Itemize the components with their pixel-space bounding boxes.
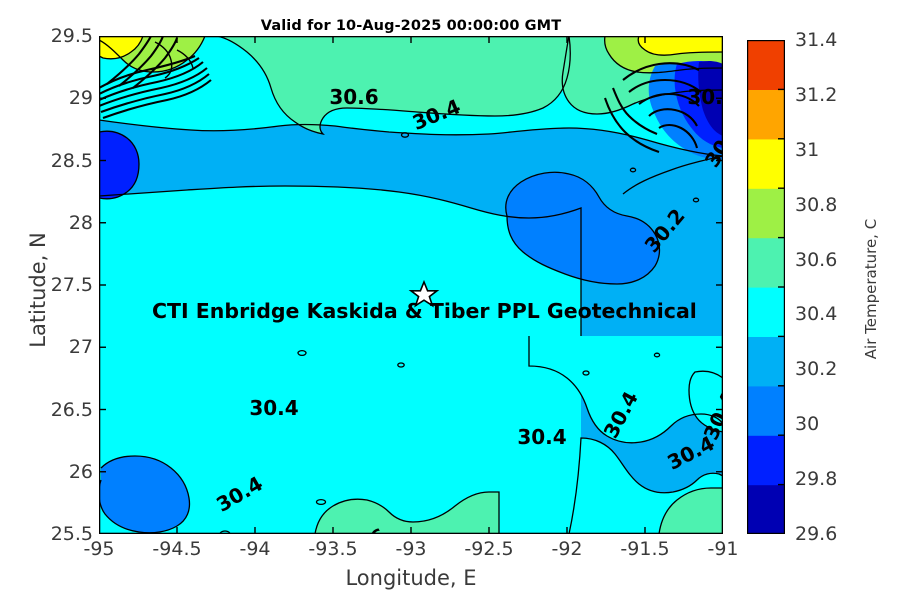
colorbar-tick-label-31: 31 (795, 139, 819, 161)
colorbar-band-3 (747, 336, 785, 386)
x-axis-label: Longitude, E (99, 566, 723, 590)
y-tick-label-29: 29 (10, 87, 93, 109)
x-tick-label--94: -94 (239, 538, 270, 560)
y-tick-label-26: 26 (10, 461, 93, 483)
colorbar-band-0 (747, 485, 785, 534)
colorbar-band-9 (747, 40, 785, 90)
colorbar-band-5 (747, 238, 785, 288)
contour-map-svg: 30.630.430.630.430.230.430.430.430.430.4… (99, 36, 723, 534)
y-tick-label-25.5: 25.5 (10, 523, 93, 545)
colorbar-tick-label-30.2: 30.2 (795, 358, 837, 380)
colorbar[interactable] (747, 40, 785, 534)
contour-label-30.4-5: 30.4 (249, 396, 298, 420)
figure-canvas: Valid for 10-Aug-2025 00:00:00 GMT (0, 0, 900, 600)
colorbar-tick-label-30.8: 30.8 (795, 194, 837, 216)
site-label: CTI Enbridge Kaskida & Tiber PPL Geotech… (152, 299, 697, 323)
y-tick-label-27: 27 (10, 336, 93, 358)
colorbar-svg (747, 40, 785, 534)
contour-map[interactable]: 30.630.430.630.430.230.430.430.430.430.4… (99, 36, 723, 534)
y-tick-label-26.5: 26.5 (10, 399, 93, 421)
page-title: Valid for 10-Aug-2025 00:00:00 GMT (99, 18, 723, 34)
x-tick-label--91.5: -91.5 (620, 538, 669, 560)
colorbar-band-4 (747, 287, 785, 337)
y-tick-label-28.5: 28.5 (10, 150, 93, 172)
x-tick-label--93.5: -93.5 (308, 538, 357, 560)
y-tick-label-28: 28 (10, 212, 93, 234)
x-tick-label--92.5: -92.5 (464, 538, 513, 560)
contour-label-30.4-6: 30.4 (517, 425, 566, 449)
colorbar-tick-label-29.8: 29.8 (795, 468, 837, 490)
colorbar-band-1 (747, 435, 785, 485)
colorbar-band-7 (747, 139, 785, 189)
x-tick-label--93: -93 (395, 538, 426, 560)
colorbar-band-6 (747, 188, 785, 238)
y-tick-label-29.5: 29.5 (10, 25, 93, 47)
contour-fills (99, 36, 723, 534)
x-tick-label--91: -91 (707, 538, 738, 560)
colorbar-tick-label-30: 30 (795, 413, 819, 435)
colorbar-tick-label-31.4: 31.4 (795, 29, 837, 51)
x-tick-label--92: -92 (551, 538, 582, 560)
y-axis-label: Latitude, N (26, 160, 50, 420)
contour-label-30.6-2: 30.6 (687, 85, 723, 109)
x-tick-label--94.5: -94.5 (152, 538, 201, 560)
colorbar-band-2 (747, 386, 785, 436)
colorbar-tick-label-29.6: 29.6 (795, 523, 837, 545)
y-tick-label-27.5: 27.5 (10, 274, 93, 296)
colorbar-tick-label-30.6: 30.6 (795, 249, 837, 271)
contour-label-30.6-0: 30.6 (329, 85, 378, 109)
colorbar-axis-label: Air Temperature, C (862, 159, 880, 419)
colorbar-tick-label-31.2: 31.2 (795, 84, 837, 106)
colorbar-band-8 (747, 89, 785, 139)
colorbar-tick-label-30.4: 30.4 (795, 303, 837, 325)
